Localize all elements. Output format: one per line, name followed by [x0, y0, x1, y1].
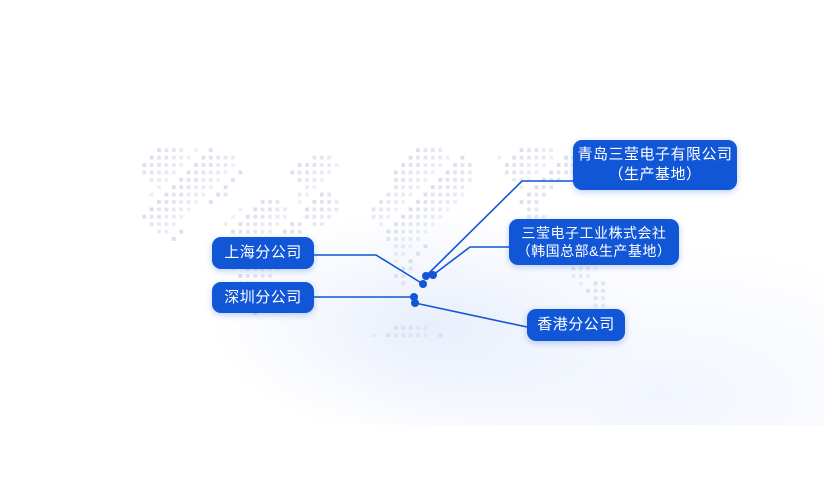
connector-korea: [433, 247, 509, 275]
label-korea-line2: （韩国总部&生产基地）: [517, 242, 672, 260]
connector-layer: [0, 0, 824, 480]
connector-shanghai: [314, 255, 423, 284]
label-korea-line1: 三莹电子工业株式会社: [522, 224, 667, 242]
connector-hongkong: [415, 303, 527, 327]
label-qingdao-line1: 青岛三莹电子有限公司: [577, 145, 732, 165]
shanghai-marker[interactable]: [419, 280, 427, 288]
label-shenzhen[interactable]: 深圳分公司: [212, 282, 314, 313]
label-shanghai[interactable]: 上海分公司: [212, 237, 314, 269]
qingdao-marker[interactable]: [422, 272, 430, 280]
label-qingdao-line2: （生产基地）: [608, 165, 701, 185]
label-korea[interactable]: 三莹电子工业株式会社 （韩国总部&生产基地）: [509, 219, 679, 265]
label-shanghai-line1: 上海分公司: [224, 243, 302, 263]
label-hongkong-line1: 香港分公司: [537, 315, 615, 335]
hongkong-marker[interactable]: [411, 299, 419, 307]
label-shenzhen-line1: 深圳分公司: [224, 288, 302, 308]
map-canvas: 青岛三莹电子有限公司 （生产基地） 三莹电子工业株式会社 （韩国总部&生产基地）…: [0, 0, 824, 480]
label-qingdao[interactable]: 青岛三莹电子有限公司 （生产基地）: [573, 140, 737, 190]
label-hongkong[interactable]: 香港分公司: [527, 309, 625, 341]
korea-marker[interactable]: [429, 271, 437, 279]
